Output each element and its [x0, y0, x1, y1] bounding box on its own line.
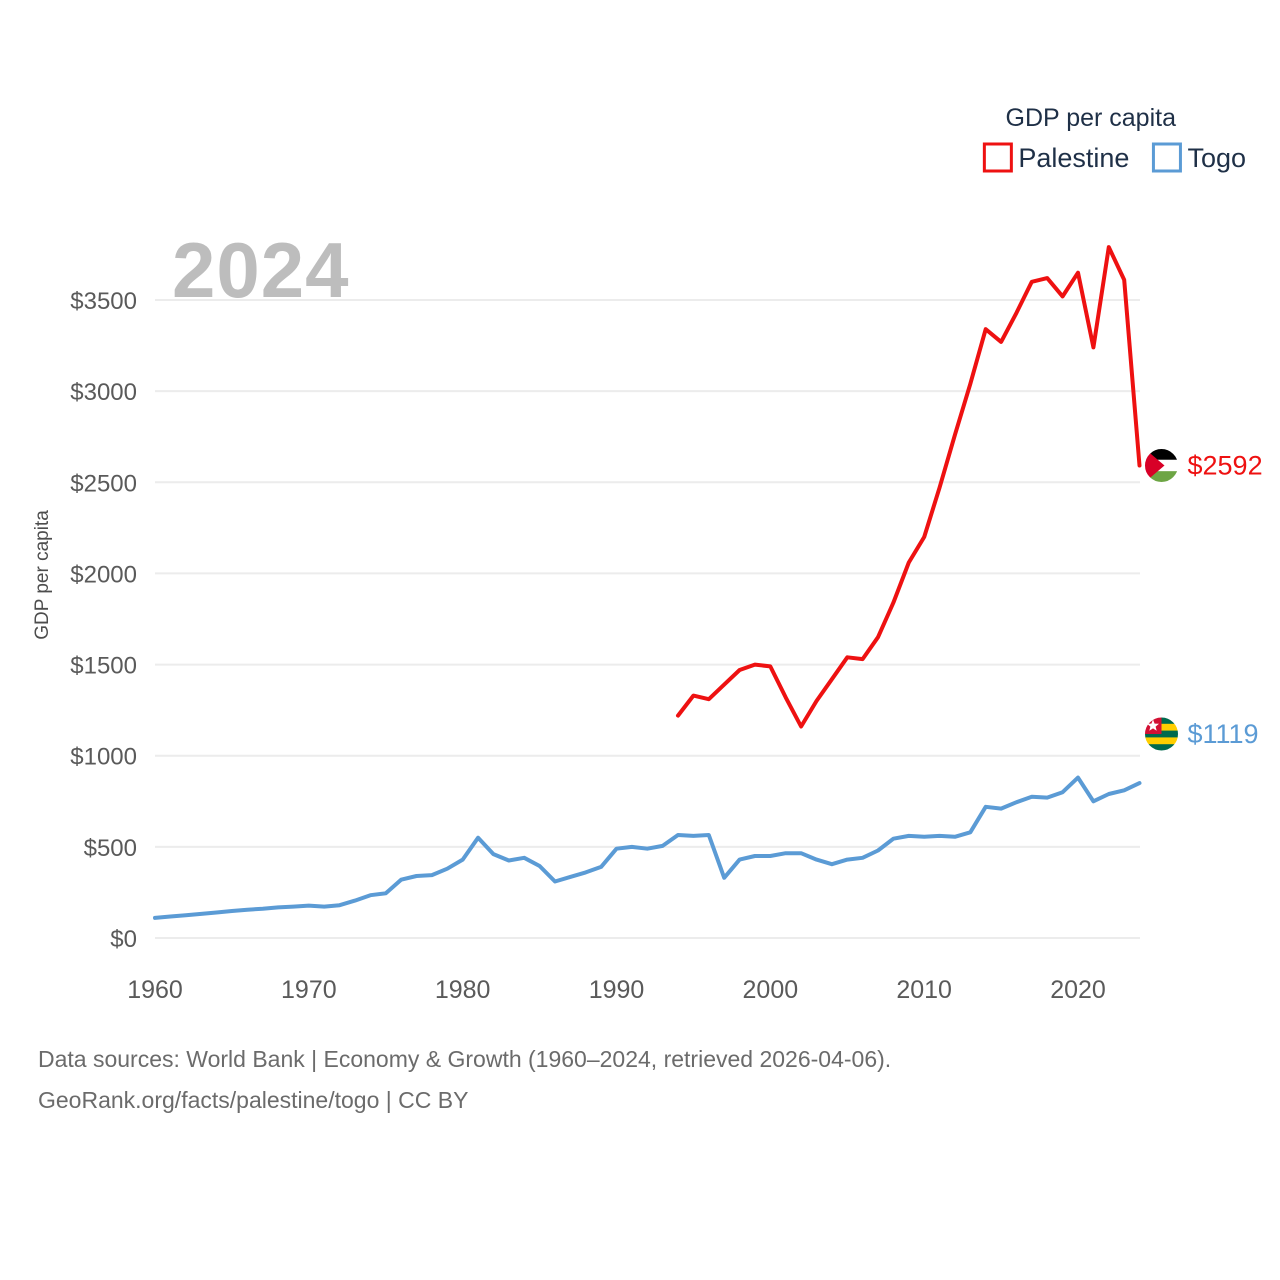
series-layer: [155, 247, 1140, 918]
y-axis-ticks: $0$500$1000$1500$2000$2500$3000$3500: [70, 288, 137, 953]
y-tick-label: $3500: [70, 288, 137, 315]
legend-title: GDP per capita: [1006, 104, 1177, 132]
y-tick-label: $2000: [70, 561, 137, 588]
footer-line-1: Data sources: World Bank | Economy & Gro…: [38, 1046, 891, 1072]
legend-item-palestine[interactable]: Palestine: [984, 143, 1129, 173]
y-tick-label: $0: [110, 926, 137, 953]
legend-label-togo: Togo: [1187, 143, 1246, 173]
legend: GDP per capita Palestine Togo: [984, 104, 1246, 173]
y-tick-label: $1500: [70, 653, 137, 680]
x-tick-label: 1990: [589, 976, 645, 1004]
endpoint-value-togo: $1119: [1188, 719, 1259, 749]
chart-canvas: GDP per capita Palestine Togo 2024 $0$50…: [0, 0, 1280, 1280]
x-tick-label: 2020: [1050, 976, 1106, 1004]
x-tick-label: 1970: [281, 976, 337, 1004]
endpoint-value-palestine: $2592: [1188, 451, 1263, 481]
y-axis-title: GDP per capita: [32, 510, 53, 640]
legend-swatch-togo: [1153, 144, 1180, 171]
y-tick-label: $500: [84, 835, 137, 862]
endpoint-palestine[interactable]: $2592: [1145, 449, 1263, 483]
x-tick-label: 1960: [127, 976, 183, 1004]
series-line-palestine: [678, 247, 1140, 726]
legend-swatch-palestine: [984, 144, 1011, 171]
footer: Data sources: World Bank | Economy & Gro…: [38, 1046, 891, 1113]
gdp-per-capita-chart: GDP per capita Palestine Togo 2024 $0$50…: [0, 0, 1280, 1280]
footer-line-2: GeoRank.org/facts/palestine/togo | CC BY: [38, 1087, 468, 1113]
x-axis-ticks: 1960197019801990200020102020: [127, 976, 1106, 1004]
y-tick-label: $3000: [70, 379, 137, 406]
x-tick-label: 2010: [896, 976, 952, 1004]
gridlines: [155, 300, 1140, 938]
x-tick-label: 1980: [435, 976, 491, 1004]
palestine-flag-icon: [1145, 449, 1179, 483]
y-tick-label: $1000: [70, 744, 137, 771]
legend-item-togo[interactable]: Togo: [1153, 143, 1246, 173]
legend-label-palestine: Palestine: [1018, 143, 1129, 173]
togo-flag-icon: [1145, 717, 1179, 751]
x-tick-label: 2000: [743, 976, 799, 1004]
y-tick-label: $2500: [70, 470, 137, 497]
endpoint-togo[interactable]: $1119: [1145, 717, 1259, 751]
